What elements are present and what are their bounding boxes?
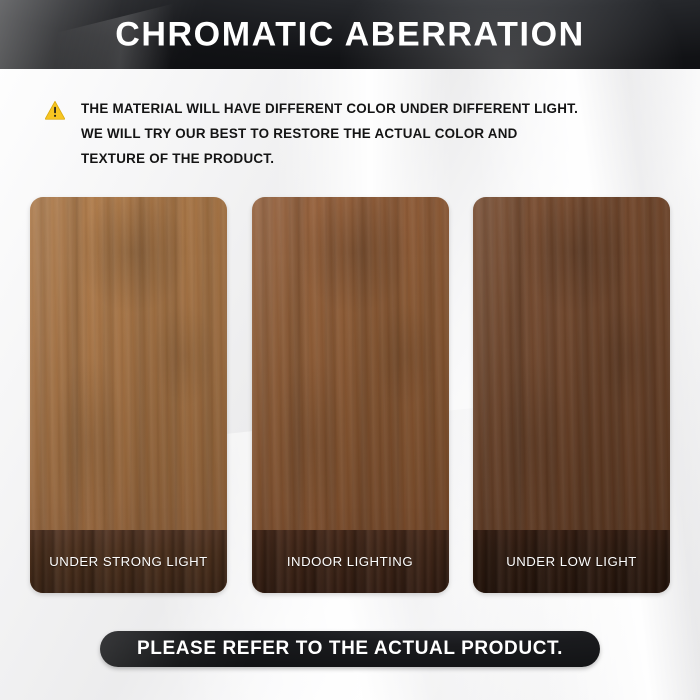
cta-label: PLEASE REFER TO THE ACTUAL PRODUCT. xyxy=(137,638,563,660)
swatch-label: UNDER LOW LIGHT xyxy=(506,554,637,569)
swatch-label: INDOOR LIGHTING xyxy=(287,554,413,569)
notice-line: WE WILL TRY OUR BEST TO RESTORE THE ACTU… xyxy=(81,121,578,146)
notice-text-block: THE MATERIAL WILL HAVE DIFFERENT COLOR U… xyxy=(81,96,578,171)
chromatic-aberration-notice: THE MATERIAL WILL HAVE DIFFERENT COLOR U… xyxy=(44,96,644,171)
warning-triangle-icon xyxy=(44,100,66,120)
notice-line: TEXTURE OF THE PRODUCT. xyxy=(81,146,578,171)
refer-to-actual-product-banner: PLEASE REFER TO THE ACTUAL PRODUCT. xyxy=(100,631,600,667)
wood-swatch-indoor-lighting: INDOOR LIGHTING xyxy=(252,197,449,593)
notice-line: THE MATERIAL WILL HAVE DIFFERENT COLOR U… xyxy=(81,96,578,121)
chromatic-aberration-infographic: CHROMATIC ABERRATION THE MATERIAL WILL H… xyxy=(0,0,700,700)
swatch-label-band: UNDER STRONG LIGHT xyxy=(30,530,227,593)
header-banner: CHROMATIC ABERRATION xyxy=(0,0,700,69)
swatch-label-band: UNDER LOW LIGHT xyxy=(473,530,670,593)
wood-swatch-row: UNDER STRONG LIGHT INDOOR LIGHTING xyxy=(30,197,670,593)
swatch-label-band: INDOOR LIGHTING xyxy=(252,530,449,593)
swatch-label: UNDER STRONG LIGHT xyxy=(49,554,207,569)
wood-swatch-strong-light: UNDER STRONG LIGHT xyxy=(30,197,227,593)
page-title: CHROMATIC ABERRATION xyxy=(0,15,700,54)
wood-swatch-low-light: UNDER LOW LIGHT xyxy=(473,197,670,593)
